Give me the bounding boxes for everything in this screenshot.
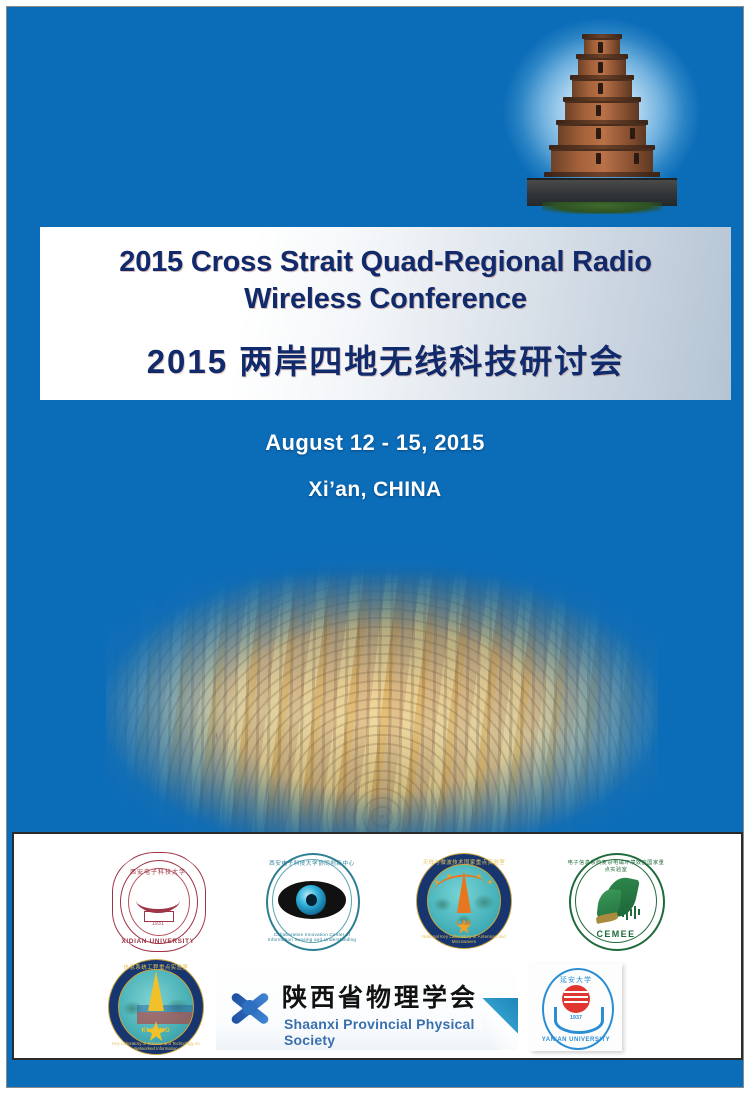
title-english-line1: 2015 Cross Strait Quad-Regional Radio <box>119 244 651 281</box>
cemee-logo-chinese: 电子信息系统复杂电磁环境效应国家重点实验室 <box>566 859 666 873</box>
yanan-logo-english: YAN'AN UNIVERSITY <box>530 1037 622 1043</box>
shaanxi-society-chinese: 陕西省物理学会 <box>282 978 478 1014</box>
title-english-line2: Wireless Conference <box>119 281 651 318</box>
pagoda-illustration <box>544 28 660 204</box>
conference-dates: August 12 - 15, 2015 <box>6 430 744 456</box>
sponsor-logo-row-2: 信息系统工程重点实验室 KLSTNO Key Laboratory of Sci… <box>106 962 636 1052</box>
sponsor-logos-panel: 西安电子科技大学 1931 XIDIAN UNIVERSITY 西安电子科技大学… <box>12 832 743 1060</box>
cemee-logo-abbr: CEMEE <box>566 929 666 939</box>
klstno-logo-abbr: KLSTNO <box>106 1028 206 1034</box>
lam-logo-english: National Key Laboratory of Antennas and … <box>414 934 514 944</box>
shaanxi-physical-society-logo-icon: 陕西省物理学会 Shaanxi Provincial Physical Soci… <box>216 964 516 1050</box>
xidian-logo-year: 1931 <box>106 921 210 927</box>
yanan-logo-chinese: 延安大学 <box>530 975 622 985</box>
title-english: 2015 Cross Strait Quad-Regional Radio Wi… <box>119 244 651 318</box>
eye-logo-english: Collaborative Innovation Center of Infor… <box>262 932 362 942</box>
eye-logo-chinese: 西安电子科技大学协同创新中心 <box>262 859 362 867</box>
conference-poster: 2015 Cross Strait Quad-Regional Radio Wi… <box>0 0 750 1094</box>
terracotta-army-photo <box>106 509 658 833</box>
xidian-logo-english: XIDIAN UNIVERSITY <box>106 938 210 945</box>
xidian-university-logo-icon: 西安电子科技大学 1931 XIDIAN UNIVERSITY <box>106 849 210 953</box>
xidian-logo-chinese: 西安电子科技大学 <box>106 867 210 876</box>
lam-laboratory-logo-icon: 天线与微波技术国家重点实验室 LAM National Key Laborato… <box>414 851 514 951</box>
klstno-laboratory-logo-icon: 信息系统工程重点实验室 KLSTNO Key Laboratory of Sci… <box>106 957 206 1057</box>
conference-location: Xi’an, CHINA <box>6 478 744 502</box>
terracotta-blue-vignette <box>106 509 658 833</box>
klstno-logo-english: Key Laboratory of Science and Technology… <box>106 1041 206 1051</box>
conference-title-band: 2015 Cross Strait Quad-Regional Radio Wi… <box>40 227 731 400</box>
pagoda-photo <box>476 10 728 230</box>
antenna-eye-institute-logo-icon: 西安电子科技大学协同创新中心 Collaborative Innovation … <box>262 851 362 951</box>
sponsor-logo-row-1: 西安电子科技大学 1931 XIDIAN UNIVERSITY 西安电子科技大学… <box>106 848 666 954</box>
cemee-laboratory-logo-icon: 电子信息系统复杂电磁环境效应国家重点实验室 CEMEE <box>566 851 666 951</box>
title-chinese: 2015 两岸四地无线科技研讨会 <box>147 335 625 383</box>
lam-logo-abbr: LAM <box>414 921 514 927</box>
yanan-logo-year: 1937 <box>530 1015 622 1021</box>
yanan-university-logo-icon: 延安大学 1937 YAN'AN UNIVERSITY <box>530 963 622 1051</box>
